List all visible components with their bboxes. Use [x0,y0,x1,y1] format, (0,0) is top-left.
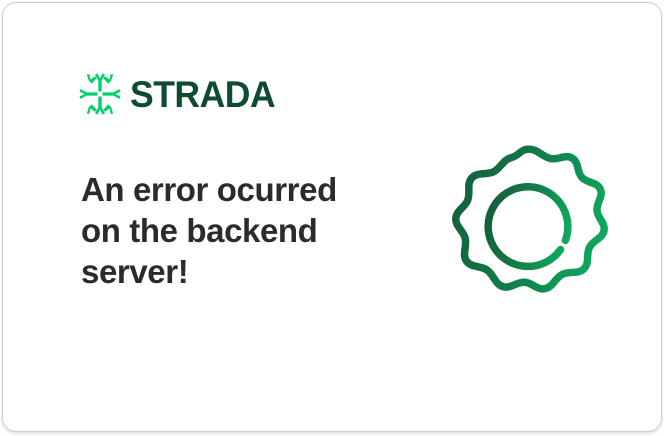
strada-asterisk-icon [79,73,121,115]
error-headline: An error ocurred on the backend server! [81,169,381,292]
gear-icon [446,140,612,306]
brand-wordmark: STRADA [130,76,275,113]
brand-lockup: STRADA [79,71,281,117]
error-card: STRADA An error ocurred on the backend s… [2,2,662,432]
